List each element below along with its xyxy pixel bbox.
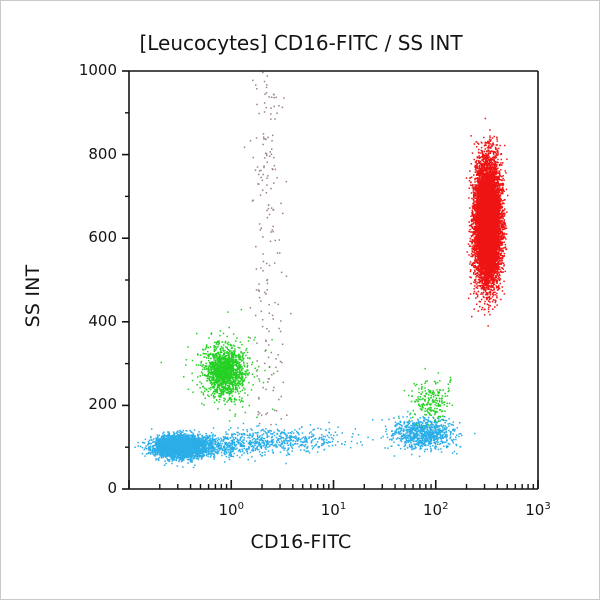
x-tick-label: 101 bbox=[304, 501, 364, 519]
population-neutrophils bbox=[466, 118, 509, 327]
x-axis-label: CD16-FITC bbox=[1, 531, 600, 553]
x-tick-base: 10 bbox=[525, 501, 544, 519]
x-tick-label: 100 bbox=[201, 501, 261, 519]
figure-container: [Leucocytes] CD16-FITC / SS INT CD16-FIT… bbox=[0, 0, 600, 600]
x-tick-label: 102 bbox=[406, 501, 466, 519]
x-tick-exponent: 0 bbox=[238, 501, 244, 512]
x-tick-exponent: 1 bbox=[340, 501, 346, 512]
x-tick-base: 10 bbox=[321, 501, 340, 519]
x-tick-exponent: 2 bbox=[442, 501, 448, 512]
y-tick-label: 1000 bbox=[51, 61, 117, 79]
y-axis-label: SS INT bbox=[22, 236, 44, 356]
population-debris-streak bbox=[244, 72, 292, 426]
y-tick-label: 200 bbox=[51, 395, 117, 413]
population-points bbox=[161, 309, 275, 422]
x-tick-base: 10 bbox=[423, 501, 442, 519]
population-points bbox=[192, 422, 369, 458]
population-monocytes bbox=[161, 309, 275, 422]
y-tick-label: 400 bbox=[51, 312, 117, 330]
population-points bbox=[466, 118, 509, 327]
population-lymphocytes-tail bbox=[192, 422, 369, 458]
y-tick-label: 800 bbox=[51, 145, 117, 163]
population-nk-cd16-positive bbox=[372, 411, 476, 457]
x-tick-exponent: 3 bbox=[544, 501, 550, 512]
x-tick-label: 103 bbox=[508, 501, 568, 519]
y-tick-label: 600 bbox=[51, 228, 117, 246]
scatter-points-layer bbox=[134, 72, 508, 468]
y-tick-label: 0 bbox=[51, 479, 117, 497]
population-points bbox=[244, 72, 292, 426]
x-tick-base: 10 bbox=[219, 501, 238, 519]
population-points bbox=[372, 411, 476, 457]
